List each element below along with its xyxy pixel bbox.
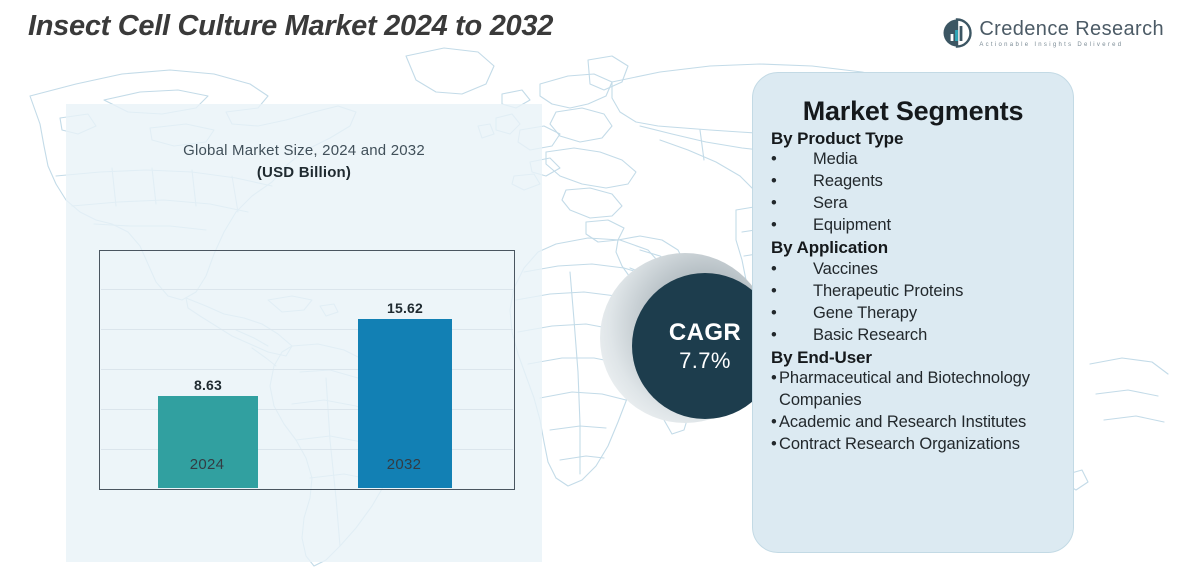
segment-item-label: Reagents: [813, 171, 1059, 193]
segment-item-label: Therapeutic Proteins: [813, 281, 1059, 303]
chart-units-label: (USD Billion): [66, 164, 542, 181]
infographic-page: Insect Cell Culture Market 2024 to 2032 …: [0, 0, 1182, 572]
segment-item: • Gene Therapy: [767, 303, 1059, 325]
x-axis-label-2032: 2032: [357, 456, 451, 473]
segment-item: • Pharmaceutical and Biotechnology Compa…: [767, 368, 1059, 412]
segment-item: • Sera: [767, 193, 1059, 215]
segment-item-label: Sera: [813, 193, 1059, 215]
market-segments-panel: Market Segments By Product Type • Media …: [752, 72, 1074, 553]
segment-item-label: Academic and Research Institutes: [779, 412, 1059, 434]
segment-item: • Reagents: [767, 171, 1059, 193]
bullet-icon: •: [771, 325, 813, 347]
segment-item: • Vaccines: [767, 259, 1059, 281]
segments-title: Market Segments: [767, 97, 1059, 127]
bullet-icon: •: [771, 149, 813, 171]
logo-tagline: Actionable Insights Delivered: [979, 42, 1164, 48]
bar-chart-plot-area: 8.63 15.62: [99, 250, 515, 490]
segment-item: • Media: [767, 149, 1059, 171]
brand-logo: Credence Research Actionable Insights De…: [942, 18, 1164, 48]
bullet-icon: •: [771, 303, 813, 325]
segment-item-label: Vaccines: [813, 259, 1059, 281]
bar-value-label-2032: 15.62: [358, 300, 452, 316]
bar-2024: [158, 396, 258, 488]
x-axis-label-2024: 2024: [157, 456, 257, 473]
market-size-chart-panel: Global Market Size, 2024 and 2032 (USD B…: [66, 104, 542, 562]
segment-item-label: Gene Therapy: [813, 303, 1059, 325]
segment-item: • Basic Research: [767, 325, 1059, 347]
bar-value-label-2024: 8.63: [158, 377, 258, 393]
segment-item: • Equipment: [767, 215, 1059, 237]
logo-text-block: Credence Research Actionable Insights De…: [979, 19, 1164, 48]
bullet-icon: •: [771, 281, 813, 303]
bullet-icon: •: [771, 259, 813, 281]
segment-group-heading-application: By Application: [767, 237, 1059, 259]
logo-company-name: Credence Research: [979, 19, 1164, 40]
bullet-icon: •: [771, 193, 813, 215]
bullet-icon: •: [771, 171, 813, 193]
gridline: [101, 289, 513, 290]
segment-item: • Therapeutic Proteins: [767, 281, 1059, 303]
segment-item: • Academic and Research Institutes: [767, 412, 1059, 434]
segment-item: • Contract Research Organizations: [767, 434, 1059, 456]
segment-group-heading-end-user: By End-User: [767, 347, 1059, 369]
segment-group-heading-product-type: By Product Type: [767, 128, 1059, 150]
page-title: Insect Cell Culture Market 2024 to 2032: [28, 10, 553, 43]
chart-subtitle: Global Market Size, 2024 and 2032: [66, 142, 542, 159]
segment-item-label: Equipment: [813, 215, 1059, 237]
segment-item-label: Contract Research Organizations: [779, 434, 1059, 456]
cagr-label: CAGR: [669, 319, 741, 347]
cagr-value: 7.7%: [679, 348, 731, 374]
bullet-icon: •: [771, 215, 813, 237]
segment-item-label: Media: [813, 149, 1059, 171]
segment-item-label: Pharmaceutical and Biotechnology Compani…: [779, 368, 1059, 412]
segment-item-label: Basic Research: [813, 325, 1059, 347]
bar-chart-circle-icon: [942, 18, 972, 48]
